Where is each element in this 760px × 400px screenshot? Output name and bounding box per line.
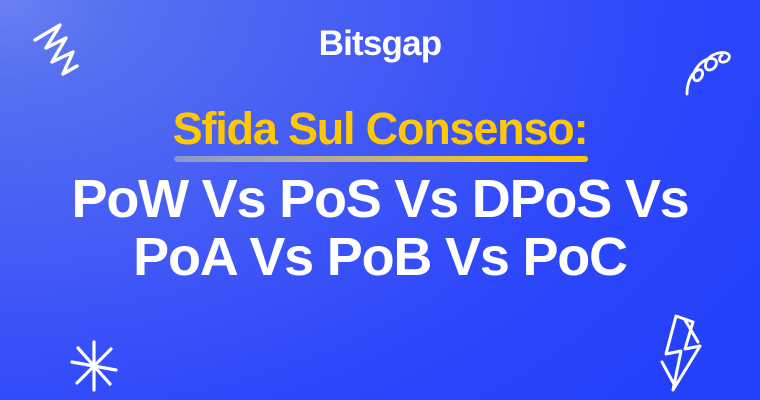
brand-wordmark: Bitsgap [0, 26, 760, 61]
headline-block: Sfida Sul Consenso: PoW Vs PoS Vs DPoS V… [0, 106, 760, 285]
headline-accent-text: Sfida Sul Consenso: [173, 106, 588, 162]
headline-line-1: PoW Vs PoS Vs DPoS Vs [0, 171, 760, 227]
promo-banner: Bitsgap Sfida Sul Consenso: PoW Vs PoS V… [0, 0, 760, 400]
headline-underline-rule [174, 156, 589, 162]
headline-line-2: PoA Vs PoB Vs PoC [0, 229, 760, 285]
sparkle-asterisk-icon [68, 340, 120, 392]
headline-accent-line: Sfida Sul Consenso: [0, 106, 760, 162]
lightning-bolt-icon [652, 312, 724, 394]
